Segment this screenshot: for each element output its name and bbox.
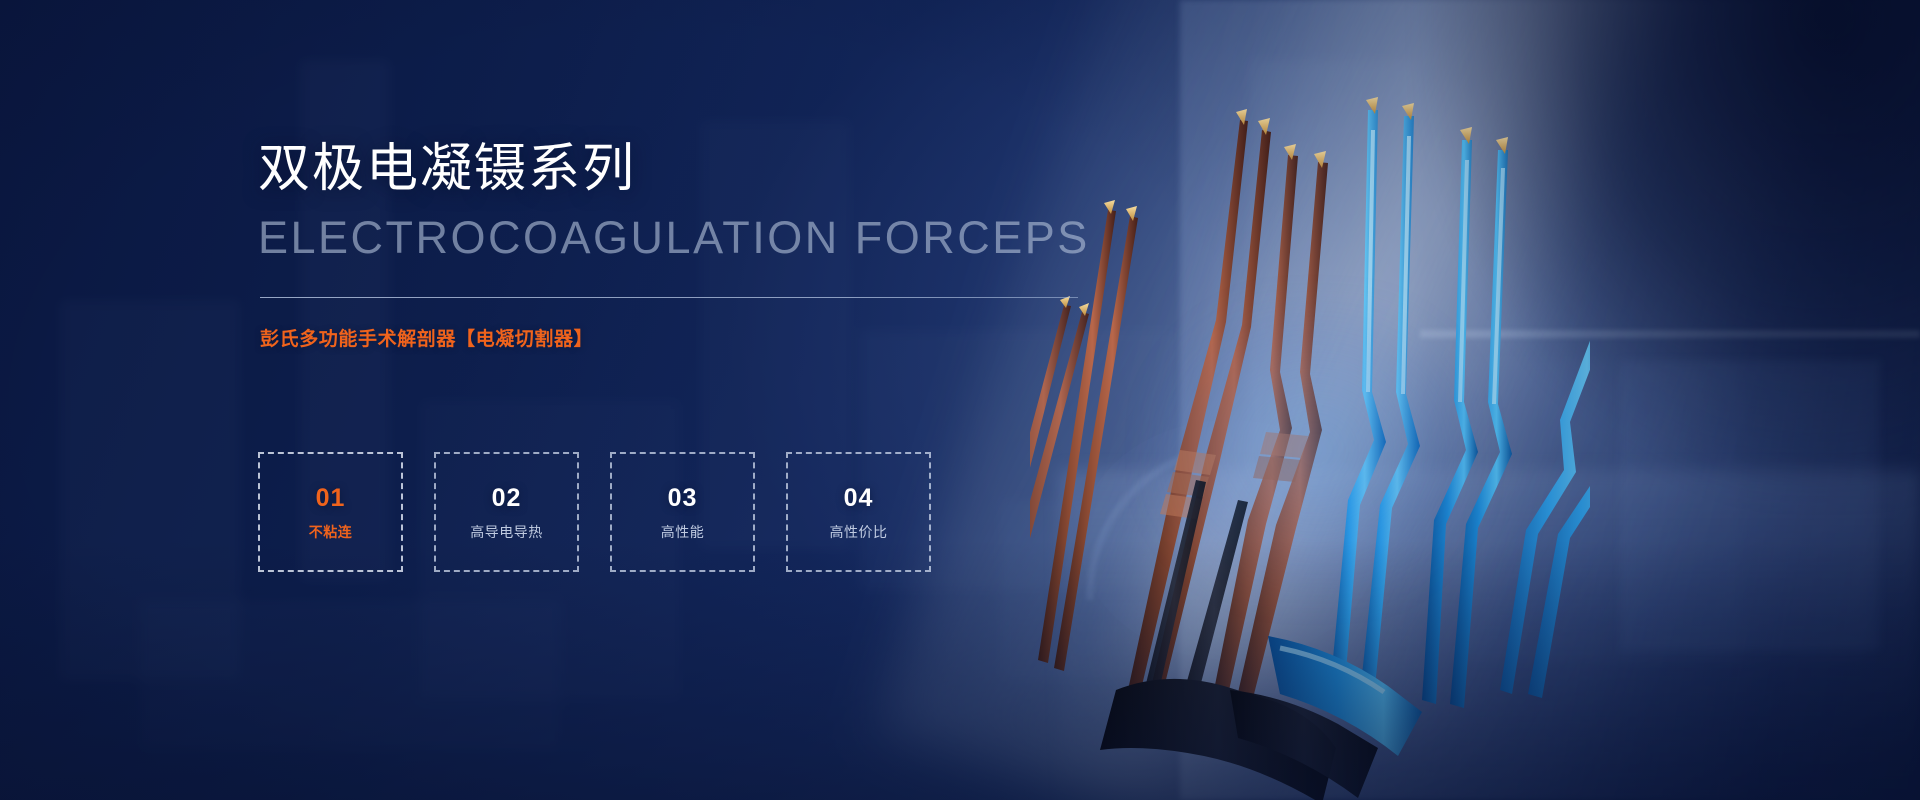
feature-item-04[interactable]: 04 高性价比: [786, 452, 931, 572]
banner-content: 双极电凝镊系列 ELECTROCOAGULATION FORCEPS 彭氏多功能…: [258, 0, 1158, 800]
feature-label: 高导电导热: [470, 522, 543, 542]
feature-item-02[interactable]: 02 高导电导热: [434, 452, 579, 572]
feature-number: 03: [668, 483, 698, 513]
feature-number: 02: [492, 483, 522, 513]
feature-label: 不粘连: [309, 522, 353, 542]
title-divider: [260, 297, 1078, 298]
feature-item-01[interactable]: 01 不粘连: [258, 452, 403, 572]
feature-list: 01 不粘连 02 高导电导热 03 高性能 04 高性价比: [258, 452, 931, 572]
feature-number: 01: [316, 483, 346, 513]
feature-number: 04: [844, 483, 874, 513]
feature-label: 高性能: [661, 522, 705, 542]
page-title-cn: 双极电凝镊系列: [258, 140, 636, 198]
product-banner: 双极电凝镊系列 ELECTROCOAGULATION FORCEPS 彭氏多功能…: [0, 0, 1920, 800]
feature-item-03[interactable]: 03 高性能: [610, 452, 755, 572]
page-title-en: ELECTROCOAGULATION FORCEPS: [258, 212, 1090, 264]
page-subtitle: 彭氏多功能手术解剖器【电凝切割器】: [260, 327, 593, 353]
feature-label: 高性价比: [830, 522, 888, 542]
